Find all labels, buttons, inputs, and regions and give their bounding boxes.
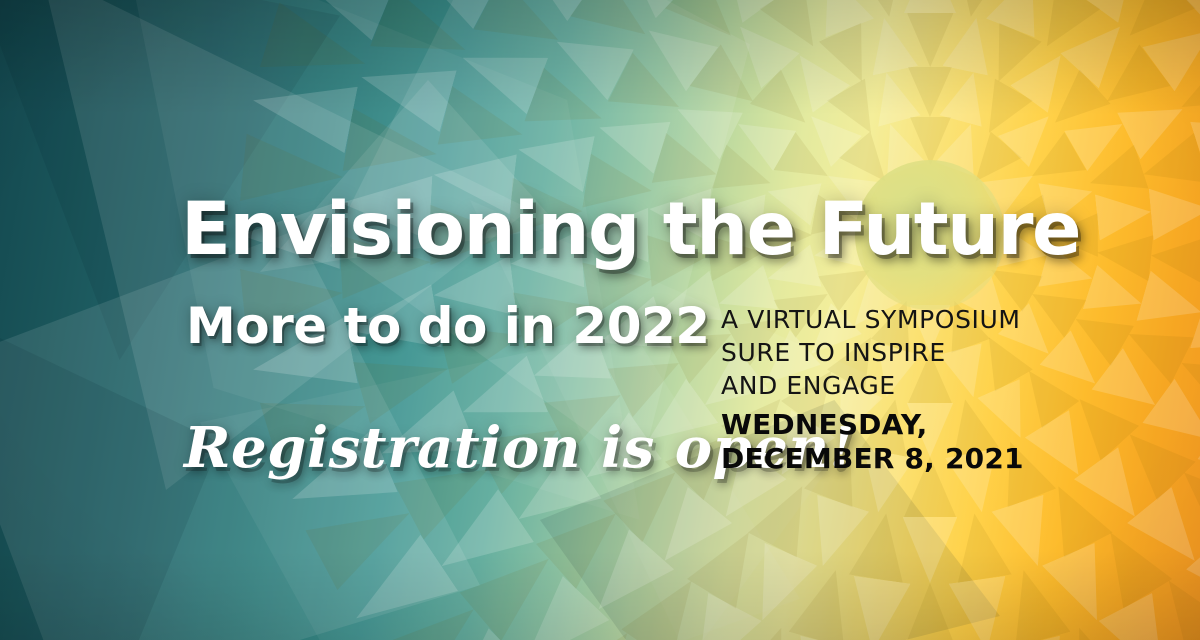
event-details-block: A VIRTUAL SYMPOSIUM SURE TO INSPIRE AND …	[721, 303, 1051, 476]
event-date-full: DECEMBER 8, 2021	[721, 442, 1051, 476]
event-date-day: WEDNESDAY,	[721, 408, 1051, 442]
banner-content: Envisioning the Future More to do in 202…	[0, 0, 1200, 640]
banner-subheadline: More to do in 2022	[186, 301, 710, 351]
banner-headline: Envisioning the Future	[181, 193, 1080, 266]
event-date-block: WEDNESDAY, DECEMBER 8, 2021	[721, 408, 1051, 476]
event-description-line: SURE TO INSPIRE	[721, 336, 1051, 369]
event-description-line: A VIRTUAL SYMPOSIUM	[721, 303, 1051, 336]
event-banner: Envisioning the Future More to do in 202…	[0, 0, 1200, 640]
event-description-line: AND ENGAGE	[721, 369, 1051, 402]
